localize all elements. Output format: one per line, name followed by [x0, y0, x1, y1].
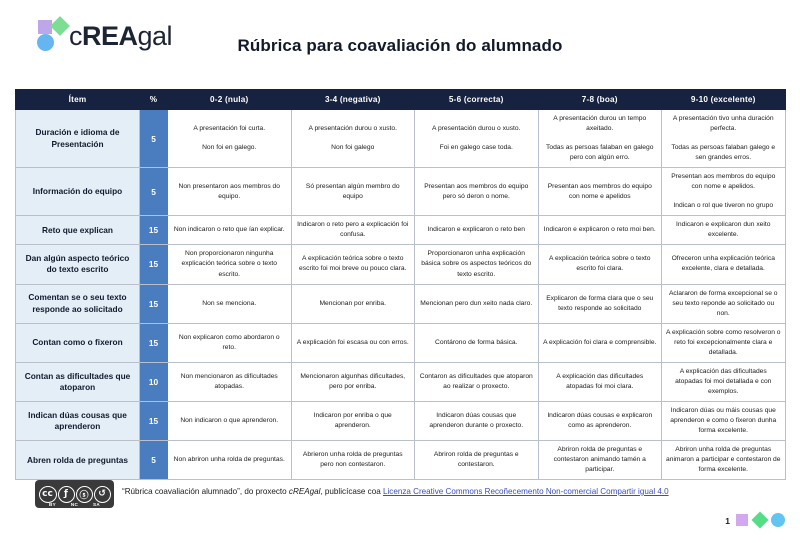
table-row: Indican dúas cousas que aprenderon15Non … [16, 401, 786, 440]
row-level-negativa: Indicaron por enriba o que aprenderon. [291, 401, 415, 440]
row-level-correcta: Contárono de forma básica. [415, 323, 539, 362]
footer-purple-square-icon [736, 514, 748, 526]
level-text: Indicaron e explicaron dun xeito excelen… [666, 220, 781, 240]
row-level-excelente: Ofreceron unha explicación teórica excel… [662, 245, 786, 284]
creative-commons-badge: cc ƒ ⓢ ↺ BY NC SA [35, 480, 114, 508]
row-level-boa: Abriron rolda de preguntas e contestaron… [538, 441, 662, 480]
row-weight-percent: 15 [140, 323, 168, 362]
row-level-correcta: Indicaron dúas cousas que aprenderon dur… [415, 401, 539, 440]
level-text: Presentan aos membros do equipo pero só … [419, 182, 534, 202]
level-text: Indicaron dúas cousas que aprenderon dur… [419, 411, 534, 431]
row-level-correcta: A presentación durou o xusto.Foi en gale… [415, 110, 539, 168]
level-text: Indicaron dúas cousas e explicaron como … [543, 411, 658, 431]
level-text: Non presentaron aos membros do equipo. [172, 182, 287, 202]
level-text: Presentan aos membros do equipo con nome… [543, 182, 658, 202]
row-level-excelente: Indicaron e explicaron dun xeito excelen… [662, 216, 786, 245]
row-level-correcta: Mencionan pero dun xeito nada claro. [415, 284, 539, 323]
row-level-negativa: Só presentan algún membro do equipo [291, 168, 415, 216]
column-header-nula: 0-2 (nula) [168, 90, 292, 110]
level-text: Non se menciona. [172, 299, 287, 309]
level-text: A presentación durou o xusto. [419, 124, 534, 134]
level-text: A explicación sobre como resolveron o re… [666, 328, 781, 358]
row-level-negativa: Mencionaron algunhas dificultades, pero … [291, 362, 415, 401]
table-row: Reto que explican15Non indicaron o reto … [16, 216, 786, 245]
row-item-label: Indican dúas cousas que aprenderon [16, 401, 140, 440]
row-level-negativa: Indicaron o reto pero a explicación foi … [291, 216, 415, 245]
table-row: Información do equipo5Non presentaron ao… [16, 168, 786, 216]
row-level-negativa: A presentación durou o xusto.Non foi gal… [291, 110, 415, 168]
row-level-boa: Explicaron de forma clara que o seu text… [538, 284, 662, 323]
level-text: Mencionan pero dun xeito nada claro. [419, 299, 534, 309]
level-text: A explicación teórica sobre o texto escr… [296, 254, 411, 274]
row-level-negativa: Abrieron unha rolda de preguntas pero no… [291, 441, 415, 480]
level-text: A explicación foi escasa ou con erros. [296, 338, 411, 348]
rubric-page: cREAgal Rúbrica para coavaliación do alu… [0, 0, 800, 543]
column-header-correcta: 5-6 (correcta) [415, 90, 539, 110]
rubric-table: Ítem % 0-2 (nula) 3-4 (negativa) 5-6 (co… [15, 89, 786, 480]
row-item-label: Reto que explican [16, 216, 140, 245]
row-item-label: Contan como o fixeron [16, 323, 140, 362]
page-header: cREAgal Rúbrica para coavaliación do alu… [0, 0, 800, 82]
license-link[interactable]: Licenza Creative Commons Recoñecemento N… [383, 487, 669, 496]
level-text: A presentación durou un tempo axeitado. [543, 114, 658, 134]
level-text: Indicaron dúas ou máis cousas que aprend… [666, 406, 781, 436]
level-text: A explicación das dificultades atopadas … [666, 367, 781, 397]
level-text: Non proporcionaron ningunha explicación … [172, 249, 287, 279]
level-text: Presentan aos membros do equipo con nome… [666, 172, 781, 192]
row-level-nula: Non abriron unha rolda de preguntas. [168, 441, 292, 480]
row-level-correcta: Presentan aos membros do equipo pero só … [415, 168, 539, 216]
level-text: Mencionan por enriba. [296, 299, 411, 309]
row-item-label: Duración e idioma de Presentación [16, 110, 140, 168]
level-text: Só presentan algún membro do equipo [296, 182, 411, 202]
table-body: Duración e idioma de Presentación5A pres… [16, 110, 786, 480]
row-level-nula: Non indicaron o que aprenderon. [168, 401, 292, 440]
row-level-correcta: Proporcionaron unha explicación básica s… [415, 245, 539, 284]
table-row: Contan as dificultades que atoparon10Non… [16, 362, 786, 401]
cc-label-by: BY [44, 502, 61, 507]
row-level-correcta: Abriron rolda de preguntas e contestaron… [415, 441, 539, 480]
level-text: Abrieron unha rolda de preguntas pero no… [296, 450, 411, 470]
column-header-negativa: 3-4 (negativa) [291, 90, 415, 110]
license-project-name: cREAgal [289, 487, 321, 496]
level-text: Indicaron e explicaron o reto ben [419, 225, 534, 235]
level-text: A presentación foi curta. [172, 124, 287, 134]
license-statement: “Rúbrica coavaliación alumnado”, do prox… [122, 486, 782, 497]
row-weight-percent: 5 [140, 110, 168, 168]
row-level-nula: Non se menciona. [168, 284, 292, 323]
cc-label-nc: NC [66, 502, 83, 507]
page-number: 1 [725, 516, 730, 526]
row-level-boa: A explicación foi clara e comprensible. [538, 323, 662, 362]
table-row: Comentan se o seu texto responde ao soli… [16, 284, 786, 323]
row-level-nula: Non proporcionaron ningunha explicación … [168, 245, 292, 284]
table-row: Contan como o fixeron15Non explicaron co… [16, 323, 786, 362]
level-text: Mencionaron algunhas dificultades, pero … [296, 372, 411, 392]
table-header-row: Ítem % 0-2 (nula) 3-4 (negativa) 5-6 (co… [16, 90, 786, 110]
row-item-label: Contan as dificultades que atoparon [16, 362, 140, 401]
purple-square-icon [38, 20, 52, 34]
green-diamond-icon [50, 16, 70, 36]
level-text: Explicaron de forma clara que o seu text… [543, 294, 658, 314]
row-level-excelente: A explicación sobre como resolveron o re… [662, 323, 786, 362]
table-row: Dan algún aspecto teórico do texto escri… [16, 245, 786, 284]
row-level-excelente: A explicación das dificultades atopadas … [662, 362, 786, 401]
license-text-before: “Rúbrica coavaliación alumnado”, do prox… [122, 487, 289, 496]
level-text: Indicaron o reto pero a explicación foi … [296, 220, 411, 240]
row-level-nula: Non explicaron como abordaron o reto. [168, 323, 292, 362]
footer-marks [736, 512, 786, 528]
row-level-correcta: Indicaron e explicaron o reto ben [415, 216, 539, 245]
cc-badge-labels: BY NC SA [35, 502, 114, 507]
level-text: A presentación tivo unha duración perfec… [666, 114, 781, 134]
level-text: A explicación foi clara e comprensible. [543, 338, 658, 348]
row-weight-percent: 10 [140, 362, 168, 401]
row-weight-percent: 5 [140, 441, 168, 480]
column-header-item: Ítem [16, 90, 140, 110]
level-text: A explicación teórica sobre o texto escr… [543, 254, 658, 274]
row-level-boa: A explicación das dificultades atopadas … [538, 362, 662, 401]
row-level-excelente: Presentan aos membros do equipo con nome… [662, 168, 786, 216]
row-level-boa: Indicaron e explicaron o reto moi ben. [538, 216, 662, 245]
column-header-boa: 7-8 (boa) [538, 90, 662, 110]
level-text: Non mencionaron as dificultades atopadas… [172, 372, 287, 392]
row-level-excelente: Indicaron dúas ou máis cousas que aprend… [662, 401, 786, 440]
row-item-label: Comentan se o seu texto responde ao soli… [16, 284, 140, 323]
level-text: Ofreceron unha explicación teórica excel… [666, 254, 781, 274]
level-text: Foi en galego case toda. [419, 143, 534, 153]
row-item-label: Información do equipo [16, 168, 140, 216]
level-text: Non foi en galego. [172, 143, 287, 153]
row-level-excelente: Aclararon de forma excepcional se o seu … [662, 284, 786, 323]
license-text-middle: , publicícase coa [320, 487, 383, 496]
cc-icon: cc [39, 486, 57, 503]
page-title: Rúbrica para coavaliación do alumnado [0, 36, 800, 56]
row-level-negativa: A explicación foi escasa ou con erros. [291, 323, 415, 362]
row-level-excelente: Abriron unha rolda de preguntas animaron… [662, 441, 786, 480]
level-text: Non indicaron o reto que ían explicar. [172, 225, 287, 235]
level-text: Aclararon de forma excepcional se o seu … [666, 289, 781, 319]
table-row: Abren rolda de preguntas5Non abriron unh… [16, 441, 786, 480]
column-header-percent: % [140, 90, 168, 110]
row-item-label: Dan algún aspecto teórico do texto escri… [16, 245, 140, 284]
row-level-boa: Presentan aos membros do equipo con nome… [538, 168, 662, 216]
cc-label-sa: SA [88, 502, 105, 507]
row-item-label: Abren rolda de preguntas [16, 441, 140, 480]
level-text: Abriron rolda de preguntas e contestaron… [419, 450, 534, 470]
level-text: Non explicaron como abordaron o reto. [172, 333, 287, 353]
footer-blue-circle-icon [771, 513, 785, 527]
level-text: Contárono de forma básica. [419, 338, 534, 348]
row-weight-percent: 15 [140, 216, 168, 245]
row-weight-percent: 15 [140, 245, 168, 284]
row-weight-percent: 15 [140, 401, 168, 440]
level-text: Contaron as dificultades que atoparon ao… [419, 372, 534, 392]
row-level-nula: Non mencionaron as dificultades atopadas… [168, 362, 292, 401]
footer-green-diamond-icon [752, 512, 769, 529]
level-text: Abriron unha rolda de preguntas animaron… [666, 445, 781, 475]
level-text: Indicaron por enriba o que aprenderon. [296, 411, 411, 431]
row-level-boa: A explicación teórica sobre o texto escr… [538, 245, 662, 284]
level-text: Non indicaron o que aprenderon. [172, 416, 287, 426]
level-text: Abriron rolda de preguntas e contestaron… [543, 445, 658, 475]
level-text: Todas as persoas falaban galego e sen gr… [666, 143, 781, 163]
column-header-excelente: 9-10 (excelente) [662, 90, 786, 110]
level-text: Todas as persoas falaban en galego pero … [543, 143, 658, 163]
cc-nc-icon: ⓢ [76, 486, 93, 503]
level-text: Non abriron unha rolda de preguntas. [172, 455, 287, 465]
level-text: A explicación das dificultades atopadas … [543, 372, 658, 392]
row-level-boa: A presentación durou un tempo axeitado.T… [538, 110, 662, 168]
row-level-nula: Non presentaron aos membros do equipo. [168, 168, 292, 216]
level-text: Proporcionaron unha explicación básica s… [419, 249, 534, 279]
level-text: A presentación durou o xusto. [296, 124, 411, 134]
row-level-nula: A presentación foi curta.Non foi en gale… [168, 110, 292, 168]
table-row: Duración e idioma de Presentación5A pres… [16, 110, 786, 168]
cc-by-icon: ƒ [58, 486, 75, 503]
row-level-boa: Indicaron dúas cousas e explicaron como … [538, 401, 662, 440]
row-level-nula: Non indicaron o reto que ían explicar. [168, 216, 292, 245]
row-level-correcta: Contaron as dificultades que atoparon ao… [415, 362, 539, 401]
cc-sa-icon: ↺ [94, 486, 111, 503]
level-text: Indicaron e explicaron o reto moi ben. [543, 225, 658, 235]
row-weight-percent: 5 [140, 168, 168, 216]
row-weight-percent: 15 [140, 284, 168, 323]
row-level-negativa: A explicación teórica sobre o texto escr… [291, 245, 415, 284]
row-level-negativa: Mencionan por enriba. [291, 284, 415, 323]
level-text: Indican o rol que tiveron no grupo [666, 201, 781, 211]
row-level-excelente: A presentación tivo unha duración perfec… [662, 110, 786, 168]
level-text: Non foi galego [296, 143, 411, 153]
